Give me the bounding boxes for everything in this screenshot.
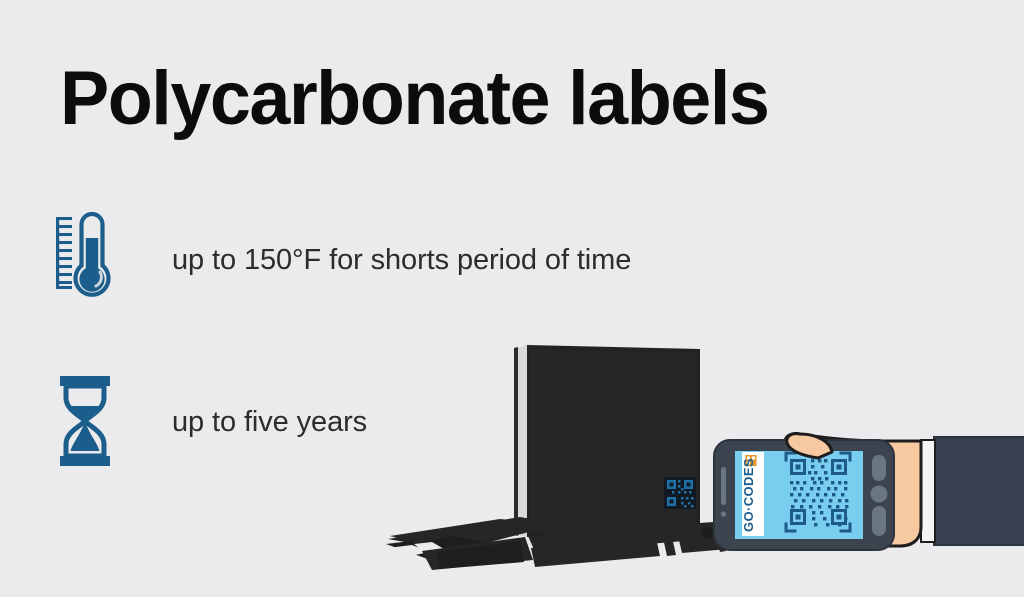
brand-label-gocodes: GO·CODES	[741, 452, 764, 536]
hourglass-icon	[50, 372, 120, 472]
volume-up-button	[872, 455, 886, 481]
qr-code-on-screen	[786, 453, 850, 531]
feature-label-lifespan: up to five years	[172, 406, 367, 439]
feature-label-temperature: up to 150°F for shorts period of time	[172, 244, 631, 277]
home-button	[871, 486, 888, 503]
thermometer-icon	[50, 210, 120, 310]
decorative-dot	[701, 527, 713, 539]
qr-asset-tag-on-laptop-lid	[664, 477, 696, 509]
brand-wordmark: GO·CODES	[741, 458, 756, 532]
volume-down-button	[872, 506, 886, 536]
hand-holding-phone	[785, 434, 1024, 546]
laptop-rear-view	[386, 345, 984, 570]
feature-row-temperature: up to 150°F for shorts period of time	[50, 210, 631, 310]
page-title: Polycarbonate labels	[60, 61, 768, 137]
smartphone-scanning-qr: GO·CODES	[714, 434, 894, 550]
feature-row-lifespan: up to five years	[50, 372, 367, 472]
infographic-canvas: Polycarbonate labels	[0, 0, 1024, 597]
